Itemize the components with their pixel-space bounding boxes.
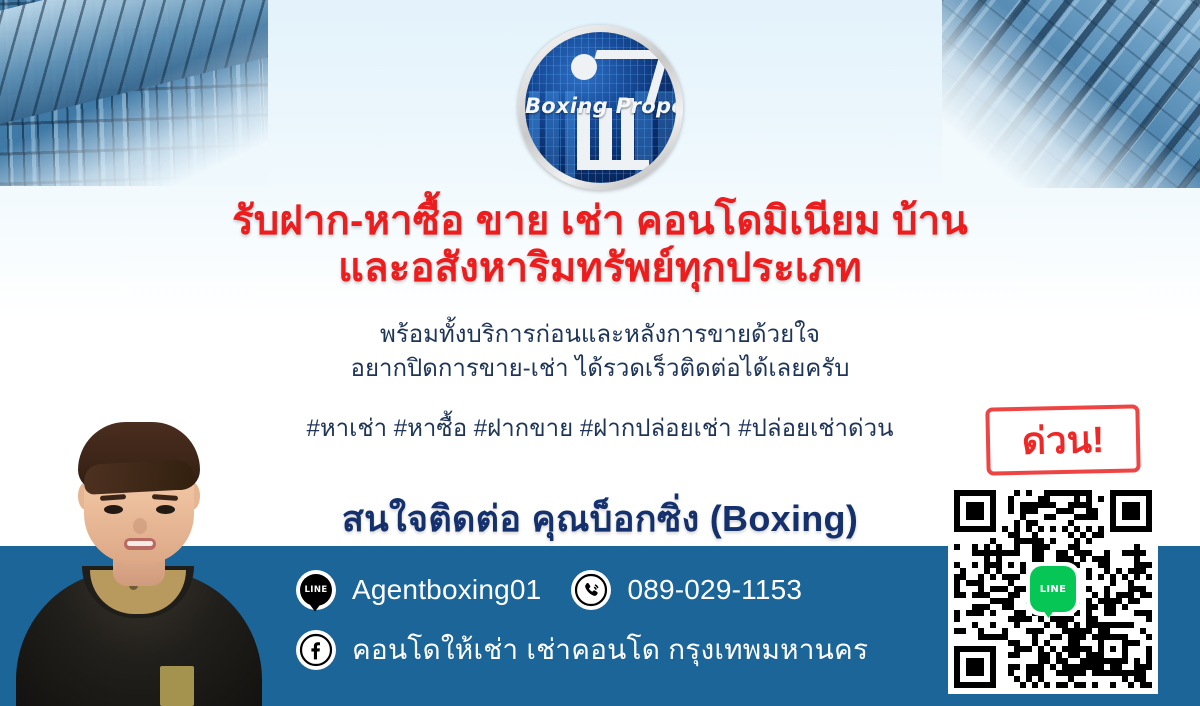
urgent-stamp: ด่วน! <box>985 404 1140 475</box>
line-icon[interactable]: LINE <box>296 570 336 610</box>
agent-portrait-photo <box>12 418 264 706</box>
headline: รับฝาก-หาซื้อ ขาย เช่า คอนโดมิเนียม บ้าน… <box>0 198 1200 292</box>
logo-text: Boxing Property <box>525 94 676 118</box>
building-photo-top-left <box>0 0 268 186</box>
qr-line-badge-icon: LINE <box>1026 562 1080 616</box>
phone-number-value[interactable]: 089-029-1153 <box>627 574 802 606</box>
portrait-eye-left <box>104 505 123 514</box>
photo-fade-mask <box>942 0 1200 188</box>
line-icon-label: LINE <box>304 585 327 595</box>
building-photo-top-right <box>942 0 1200 188</box>
line-id-value[interactable]: Agentboxing01 <box>352 574 541 606</box>
portrait-name-badge <box>160 666 194 706</box>
headline-line-2: และอสังหาริมทรัพย์ทุกประเภท <box>0 245 1200 292</box>
contact-row-line: LINE Agentboxing01 089-029-1153 <box>296 566 868 614</box>
line-qr-code[interactable]: LINE <box>948 484 1158 694</box>
headline-line-1: รับฝาก-หาซื้อ ขาย เช่า คอนโดมิเนียม บ้าน <box>0 198 1200 245</box>
facebook-page-value[interactable]: คอนโดให้เช่า เช่าคอนโด กรุงเทพมหานคร <box>352 628 868 672</box>
portrait-teeth <box>127 541 153 546</box>
subcopy: พร้อมทั้งบริการก่อนและหลังการขายด้วยใจ อ… <box>0 318 1200 386</box>
contact-rows: LINE Agentboxing01 089-029-1153 <box>296 566 868 674</box>
portrait-eye-right <box>156 505 175 514</box>
phone-icon[interactable] <box>571 570 611 610</box>
portrait-hair-fringe <box>83 459 194 495</box>
qr-modules: LINE <box>954 490 1152 688</box>
facebook-icon[interactable] <box>296 630 336 670</box>
subcopy-line-1: พร้อมทั้งบริการก่อนและหลังการขายด้วยใจ <box>0 318 1200 352</box>
poster-canvas: Boxing Property รับฝาก-หาซื้อ ขาย เช่า ค… <box>0 0 1200 706</box>
contact-row-facebook: คอนโดให้เช่า เช่าคอนโด กรุงเทพมหานคร <box>296 626 868 674</box>
subcopy-line-2: อยากปิดการขาย-เช่า ได้รวดเร็วติดต่อได้เล… <box>0 352 1200 386</box>
brand-logo: Boxing Property <box>518 25 683 190</box>
photo-fade-mask <box>0 0 268 186</box>
portrait-nose <box>133 518 147 534</box>
building-person-logo-icon: Boxing Property <box>525 32 676 183</box>
qr-line-badge-label: LINE <box>1040 584 1067 595</box>
